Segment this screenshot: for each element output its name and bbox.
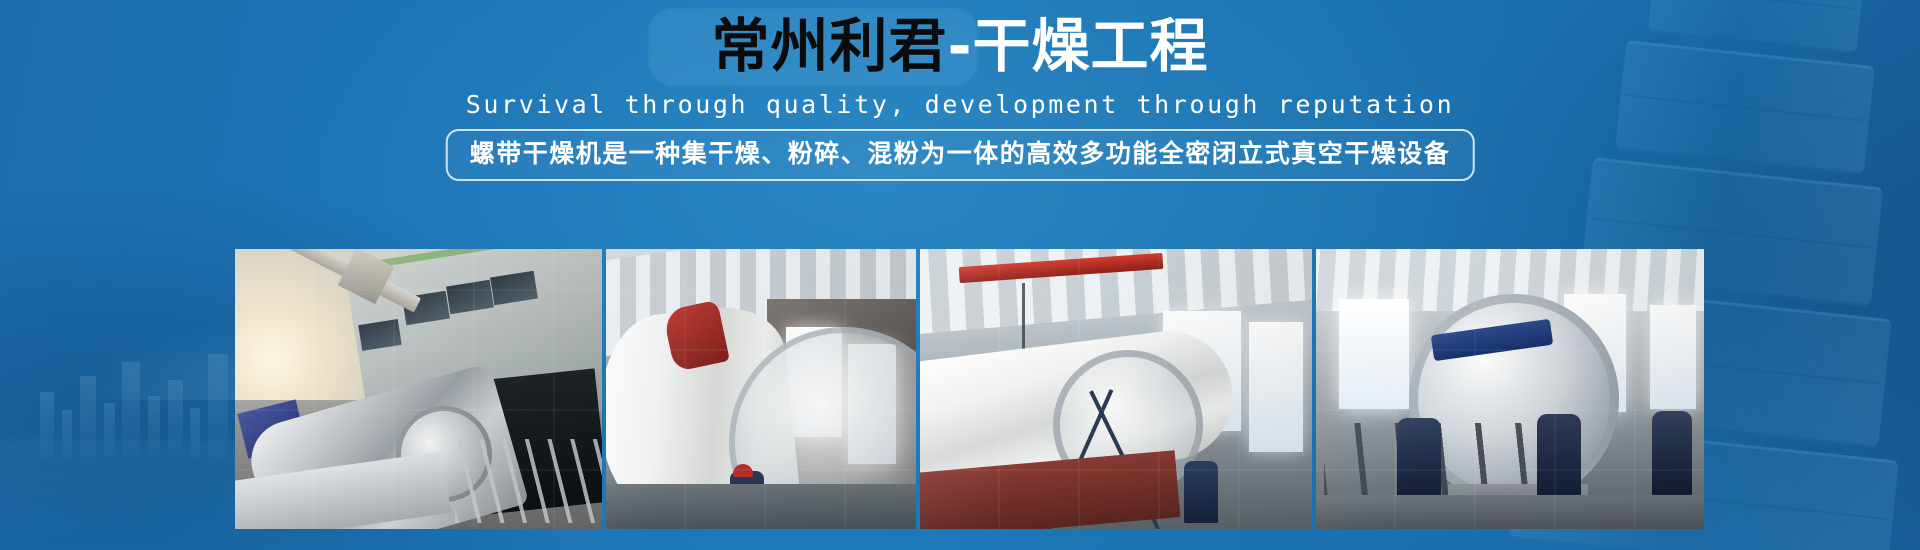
page-title: 常州利君-干燥工程 [0, 14, 1920, 78]
title-business-name: -干燥工程 [947, 12, 1208, 80]
photo-floor [1316, 495, 1704, 529]
photo-steel-rack [455, 439, 602, 523]
photo-worker [1184, 461, 1218, 523]
photo-crane-hook [1022, 283, 1025, 355]
product-photo[interactable]: stainless-steel-conical-dryer-outside-fa… [235, 249, 602, 529]
product-photo[interactable]: long-dryer-vessel-under-overhead-crane [920, 249, 1312, 529]
product-photo-strip: stainless-steel-conical-dryer-outside-fa… [235, 249, 1700, 529]
subtitle-text: 螺带干燥机是一种集干燥、粉碎、混粉为一体的高效多功能全密闭立式真空干燥设备 [470, 138, 1451, 170]
tagline-text: Survival through quality, development th… [0, 88, 1920, 122]
photo-worker [1652, 411, 1692, 501]
subtitle-box: 螺带干燥机是一种集干燥、粉碎、混粉为一体的高效多功能全密闭立式真空干燥设备 [446, 129, 1475, 181]
promo-banner: 常州利君-干燥工程 Survival through quality, deve… [0, 0, 1920, 550]
photo-floor [606, 484, 916, 529]
product-photo[interactable]: workers-assembling-vacuum-dryer-drum [1316, 249, 1704, 529]
product-photo[interactable]: white-conical-vessel-in-workshop [606, 249, 916, 529]
title-company-name: 常州利君 [711, 12, 947, 80]
